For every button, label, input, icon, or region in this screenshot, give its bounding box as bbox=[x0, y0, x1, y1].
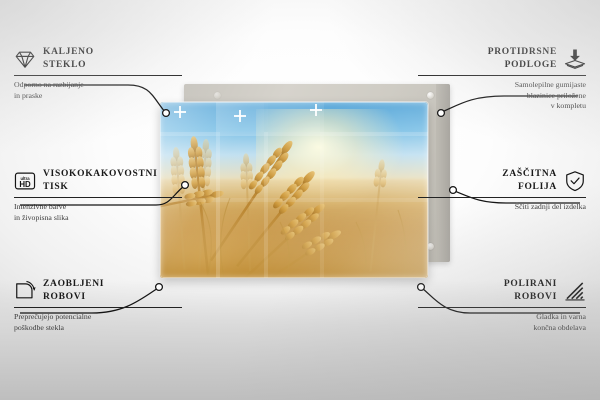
feature-description: Ščiti zadnji del izdelka bbox=[418, 202, 586, 213]
ultra-hd-icon-large-text: HD bbox=[19, 180, 31, 189]
feature-title: ZAOBLJENI ROBOVI bbox=[43, 278, 104, 303]
feature-header: ZAOBLJENI ROBOVI bbox=[14, 278, 182, 303]
rubber-pad bbox=[427, 243, 434, 250]
feature-protective-foil: ZAŠČITNA FOLIJA Ščiti zadnji del izdelka bbox=[418, 168, 586, 213]
divider bbox=[418, 197, 586, 198]
feature-header: PROTIDRSNE PODLOGE bbox=[418, 46, 586, 71]
infographic-canvas: KALJENO STEKLO Odporno na razbijanje in … bbox=[0, 0, 600, 400]
diamond-icon bbox=[14, 48, 36, 70]
divider bbox=[14, 307, 182, 308]
diagonal-hatch-icon bbox=[564, 280, 586, 302]
feature-title: ZAŠČITNA FOLIJA bbox=[502, 168, 557, 193]
arrow-down-onto-pad-icon bbox=[564, 48, 586, 70]
shield-check-icon bbox=[564, 170, 586, 192]
feature-title: VISOKOKAKOVOSTNI TISK bbox=[43, 168, 157, 193]
ultra-hd-icon: ultra HD bbox=[14, 170, 36, 192]
divider bbox=[14, 197, 182, 198]
feature-polished-edges: POLIRANI ROBOVI Gladka in varna končna o… bbox=[418, 278, 586, 333]
feature-tempered-glass: KALJENO STEKLO Odporno na razbijanje in … bbox=[14, 46, 182, 101]
product-render bbox=[160, 84, 450, 289]
feature-header: ultra HD VISOKOKAKOVOSTNI TISK bbox=[14, 168, 182, 193]
divider bbox=[14, 75, 182, 76]
feature-description: Intenzivne barve in živopisna slika bbox=[14, 202, 182, 223]
feature-description: Odporno na razbijanje in praske bbox=[14, 80, 182, 101]
feature-description: Preprečujejo potencialne poškodbe stekla bbox=[14, 312, 182, 333]
divider bbox=[418, 307, 586, 308]
printed-glass-panel bbox=[160, 102, 428, 278]
feature-anti-slip-pads: PROTIDRSNE PODLOGE Samolepilne gumijaste… bbox=[418, 46, 586, 112]
feature-description: Gladka in varna končna obdelava bbox=[418, 312, 586, 333]
wheat-stalks-artwork bbox=[160, 102, 428, 278]
feature-title: KALJENO STEKLO bbox=[43, 46, 94, 71]
feature-description: Samolepilne gumijaste blazinice priložen… bbox=[418, 80, 586, 112]
feature-high-quality-print: ultra HD VISOKOKAKOVOSTNI TISK Intenzivn… bbox=[14, 168, 182, 223]
feature-header: KALJENO STEKLO bbox=[14, 46, 182, 71]
feature-header: ZAŠČITNA FOLIJA bbox=[418, 168, 586, 193]
feature-rounded-edges: ZAOBLJENI ROBOVI Preprečujejo potencialn… bbox=[14, 278, 182, 333]
feature-title: PROTIDRSNE PODLOGE bbox=[488, 46, 557, 71]
rounded-corner-icon bbox=[14, 280, 36, 302]
divider bbox=[418, 75, 586, 76]
feature-title: POLIRANI ROBOVI bbox=[504, 278, 557, 303]
feature-header: POLIRANI ROBOVI bbox=[418, 278, 586, 303]
rubber-pad bbox=[214, 92, 221, 99]
